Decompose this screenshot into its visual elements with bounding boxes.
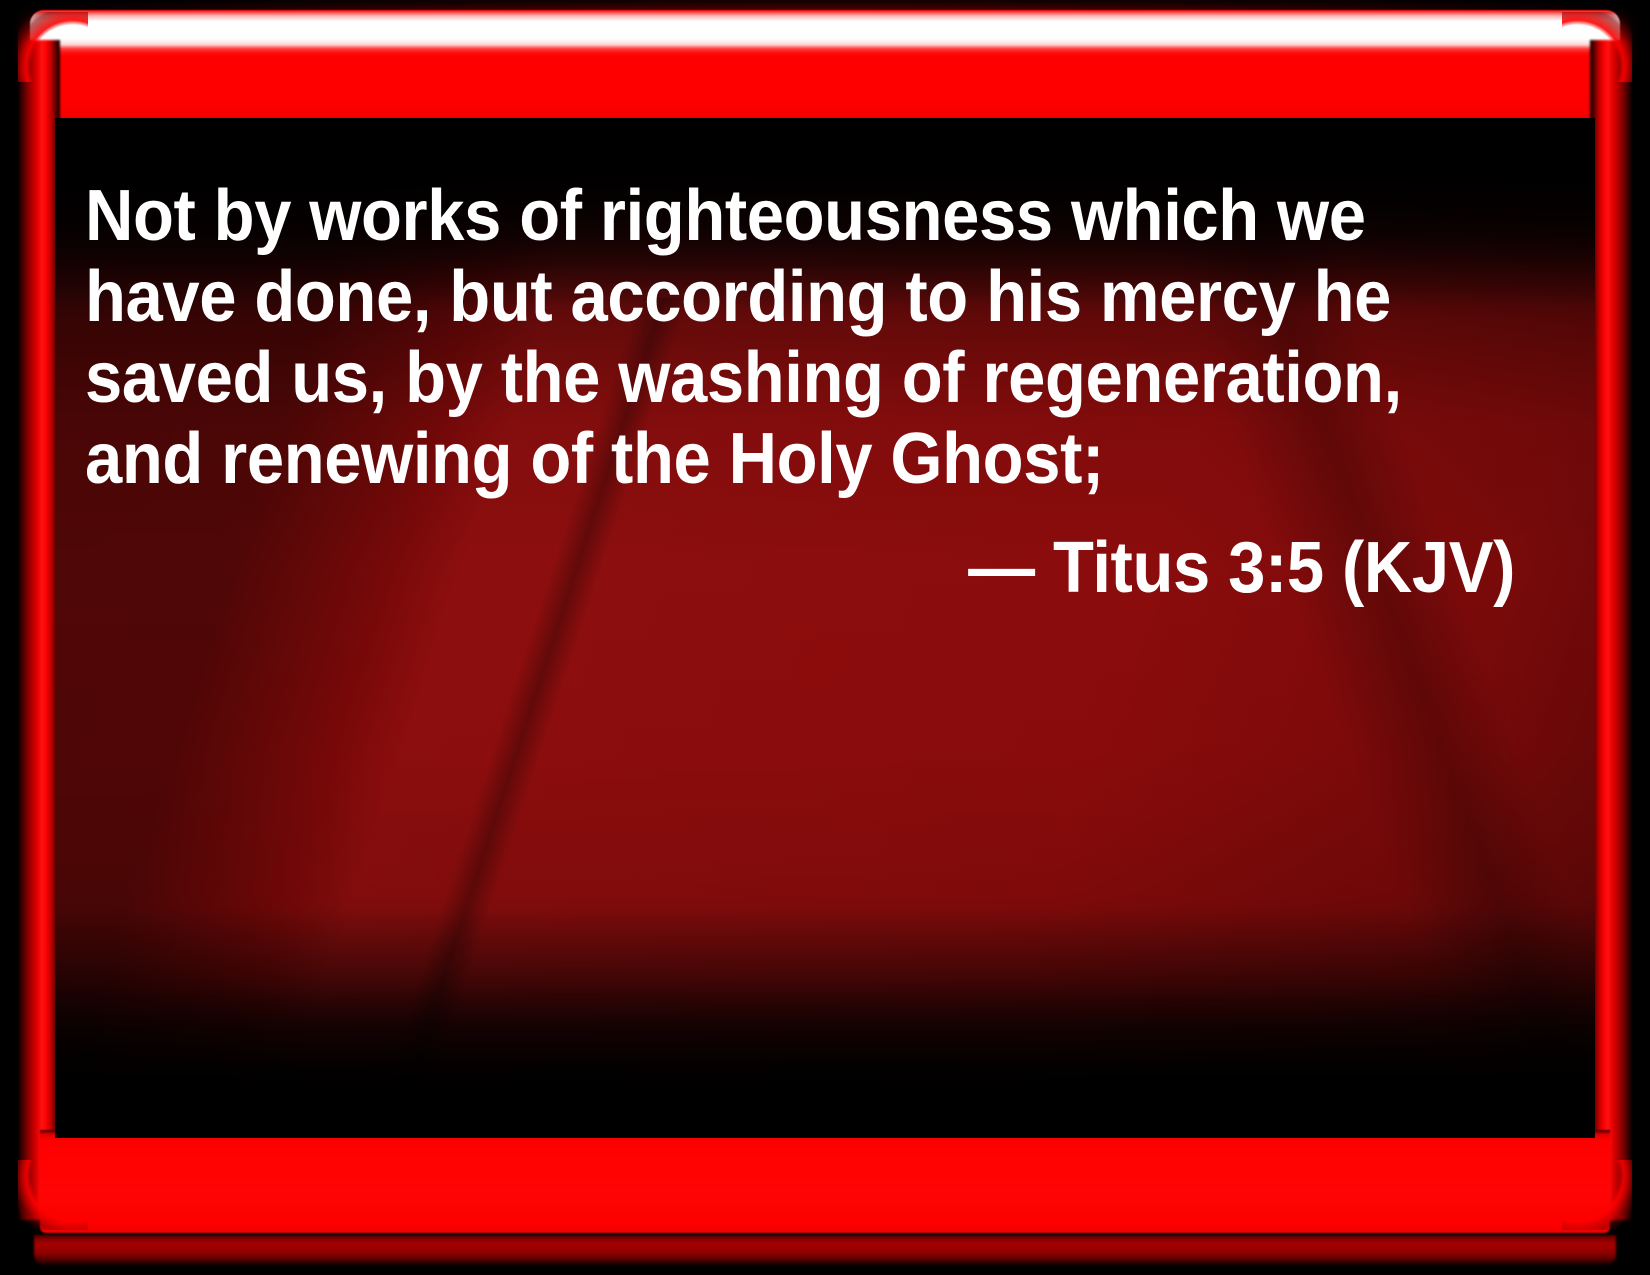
verse-line-3: saved us, by the washing of regeneration… <box>85 338 1415 419</box>
verse-text-block: Not by works of righteousness which we h… <box>85 176 1515 609</box>
frame-left-bar <box>18 40 60 1220</box>
frame-right-bar <box>1590 40 1632 1220</box>
verse-slide: Not by works of righteousness which we h… <box>0 0 1650 1275</box>
frame-corner-top-right <box>1562 12 1632 82</box>
frame-bottom-bar <box>40 1130 1610 1233</box>
frame-corner-top-left <box>18 12 88 82</box>
verse-line-1: Not by works of righteousness which we <box>85 176 1415 257</box>
frame-corner-bottom-right <box>1562 1160 1632 1230</box>
verse-line-4: and renewing of the Holy Ghost; <box>85 419 1415 500</box>
interior-bottom-fade <box>55 908 1595 1138</box>
verse-line-2: have done, but according to his mercy he <box>85 257 1415 338</box>
verse-attribution: — Titus 3:5 (KJV) <box>185 528 1515 609</box>
frame-corner-bottom-left <box>18 1160 88 1230</box>
frame-bottom-foot <box>34 1234 1616 1266</box>
